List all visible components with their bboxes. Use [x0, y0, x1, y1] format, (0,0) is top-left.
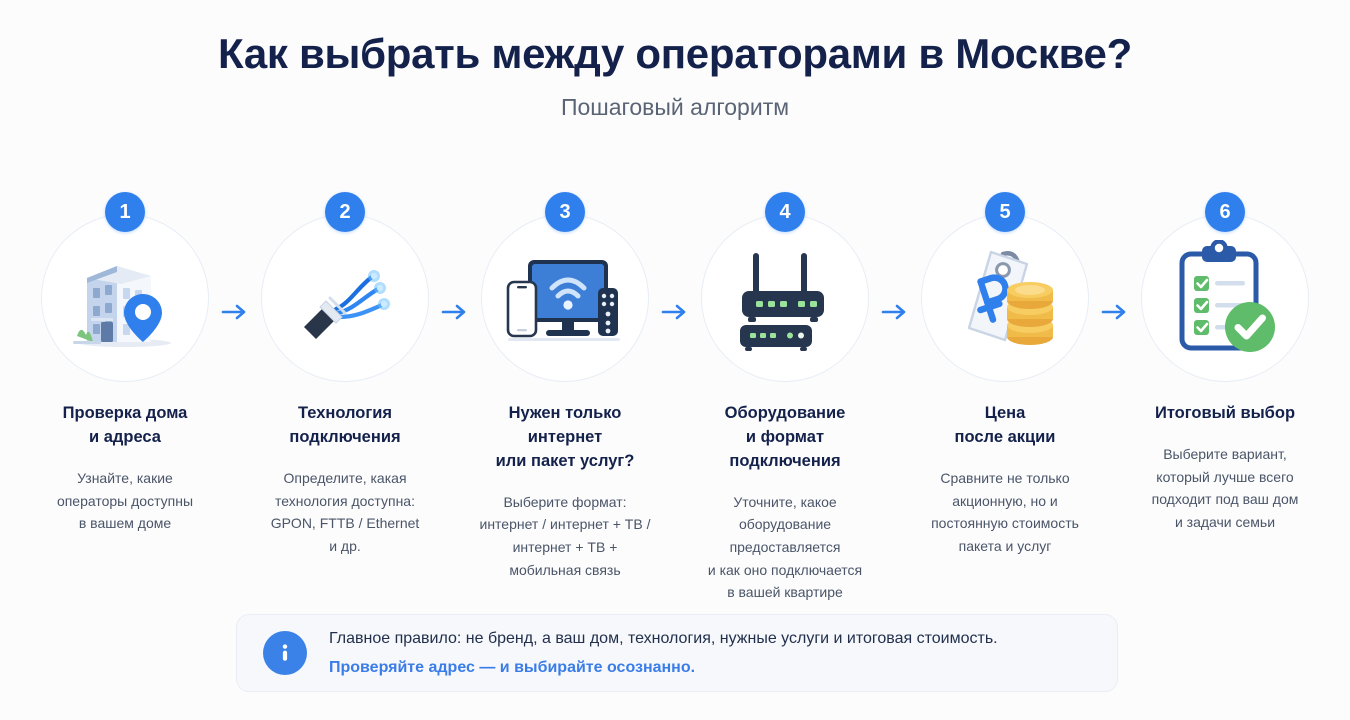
- step-description-3: Выберите формат: интернет / интернет + Т…: [480, 491, 651, 582]
- info-icon: [263, 631, 307, 675]
- step-title-5: Цена после акции: [955, 402, 1056, 450]
- arrow-right-icon: [1101, 302, 1129, 322]
- step-number-badge-1: 1: [105, 192, 145, 232]
- step-description-4: Уточните, какое оборудование предоставля…: [692, 491, 878, 604]
- price-tag-ruble-coins-icon: [947, 242, 1063, 354]
- tv-phone-wifi-remote-icon: [502, 242, 628, 354]
- clipboard-checklist-check-icon: [1168, 240, 1282, 356]
- header: Как выбрать между операторами в Москве? …: [0, 0, 1350, 122]
- arrow-connector-5: [1098, 302, 1132, 322]
- step-icon-circle-6: [1141, 214, 1309, 382]
- step-description-6: Выберите вариант, который лучше всего по…: [1152, 443, 1299, 534]
- callout-cta-text: Проверяйте адрес — и выбирайте осознанно…: [329, 657, 998, 679]
- step-5: 5: [912, 192, 1098, 558]
- arrow-connector-4: [878, 302, 912, 322]
- step-number-badge-6: 6: [1205, 192, 1245, 232]
- arrow-connector-2: [438, 302, 472, 322]
- infographic-page: Как выбрать между операторами в Москве? …: [0, 0, 1350, 720]
- step-3: 3: [472, 192, 658, 581]
- step-title-3: Нужен только интернет или пакет услуг?: [472, 402, 658, 474]
- arrow-right-icon: [661, 302, 689, 322]
- step-1: 1: [32, 192, 218, 535]
- page-title: Как выбрать между операторами в Москве?: [0, 30, 1350, 78]
- step-title-1: Проверка дома и адреса: [63, 402, 188, 450]
- step-4: 4: [692, 192, 878, 604]
- arrow-connector-1: [218, 302, 252, 322]
- fiber-optic-cable-icon: [284, 243, 406, 353]
- step-title-4: Оборудование и формат подключения: [692, 402, 878, 474]
- step-description-1: Узнайте, какие операторы доступны в ваше…: [57, 467, 193, 535]
- bottom-callout: Главное правило: не бренд, а ваш дом, те…: [236, 614, 1118, 692]
- step-icon-circle-2: [261, 214, 429, 382]
- arrow-right-icon: [221, 302, 249, 322]
- building-location-pin-icon: [65, 242, 185, 354]
- step-description-5: Сравните не только акционную, но и посто…: [931, 467, 1079, 558]
- router-settop-box-icon: [726, 243, 844, 353]
- arrow-connector-3: [658, 302, 692, 322]
- step-number-badge-5: 5: [985, 192, 1025, 232]
- info-glyph-icon: [273, 641, 297, 665]
- callout-body: Главное правило: не бренд, а ваш дом, те…: [329, 628, 998, 678]
- step-number-badge-3: 3: [545, 192, 585, 232]
- step-icon-circle-3: [481, 214, 649, 382]
- steps-row: 1: [32, 192, 1318, 604]
- step-title-6: Итоговый выбор: [1155, 402, 1295, 426]
- step-number-badge-2: 2: [325, 192, 365, 232]
- arrow-right-icon: [881, 302, 909, 322]
- arrow-right-icon: [441, 302, 469, 322]
- step-icon-circle-4: [701, 214, 869, 382]
- step-icon-circle-5: [921, 214, 1089, 382]
- step-2: 2: [252, 192, 438, 558]
- page-subtitle: Пошаговый алгоритм: [0, 94, 1350, 122]
- step-title-2: Технология подключения: [289, 402, 400, 450]
- step-6: 6: [1132, 192, 1318, 534]
- callout-rule-text: Главное правило: не бренд, а ваш дом, те…: [329, 628, 998, 650]
- step-icon-circle-1: [41, 214, 209, 382]
- step-description-2: Определите, какая технология доступна: G…: [271, 467, 420, 558]
- step-number-badge-4: 4: [765, 192, 805, 232]
